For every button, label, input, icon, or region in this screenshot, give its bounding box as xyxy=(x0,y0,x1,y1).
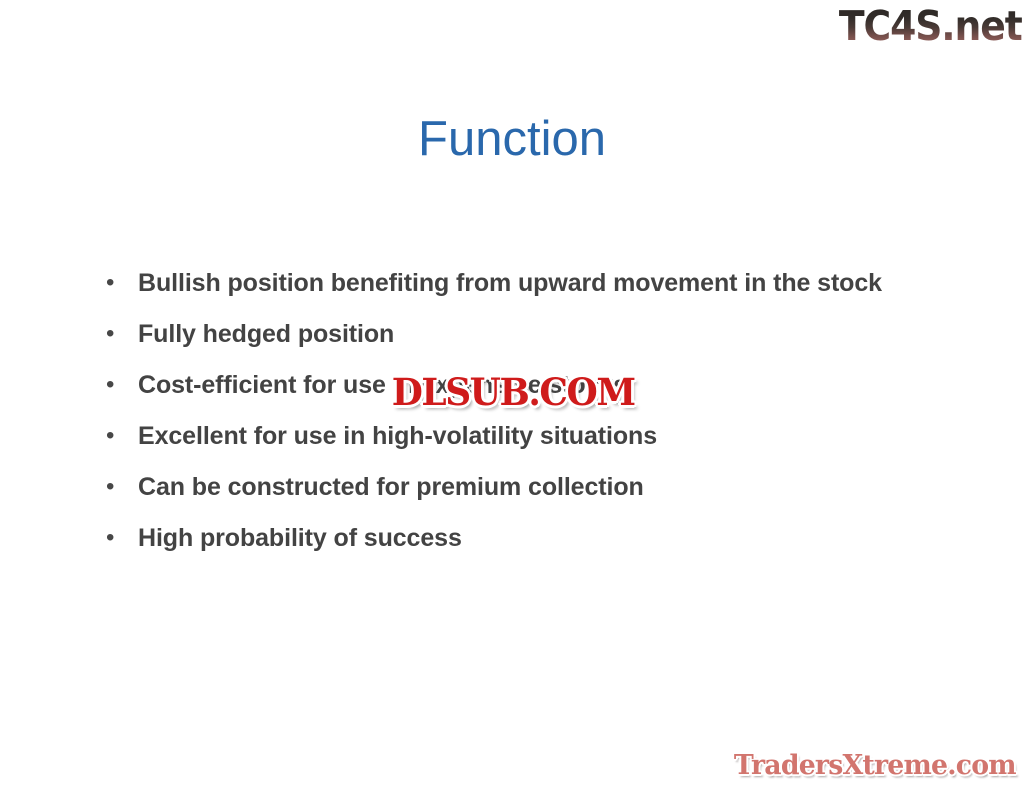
bullet-point-icon: • xyxy=(98,418,138,454)
list-item-label: Excellent for use in high-volatility sit… xyxy=(138,418,928,454)
list-item-label: Cost-efficient for use in expensive stoc… xyxy=(138,367,928,403)
bullet-point-icon: • xyxy=(98,316,138,352)
list-item: • Fully hedged position xyxy=(98,316,928,352)
site-logo: TC4S.net xyxy=(830,0,1022,54)
bullet-point-icon: • xyxy=(98,367,138,403)
bullet-point-icon: • xyxy=(98,520,138,556)
list-item-label: Bullish position benefiting from upward … xyxy=(138,265,928,301)
list-item: • High probability of success xyxy=(98,520,928,556)
bottom-right-watermark-text: TradersXtreme.com xyxy=(734,752,1016,779)
presentation-slide: TC4S.net Function • Bullish position ben… xyxy=(0,0,1024,791)
list-item: • Bullish position benefiting from upwar… xyxy=(98,265,928,301)
bullet-point-icon: • xyxy=(98,265,138,301)
list-item: • Can be constructed for premium collect… xyxy=(98,469,928,505)
site-logo-text: TC4S.net xyxy=(839,6,1022,47)
list-item-label: Fully hedged position xyxy=(138,316,928,352)
bullet-list: • Bullish position benefiting from upwar… xyxy=(98,265,928,571)
list-item-label: Can be constructed for premium collectio… xyxy=(138,469,928,505)
bottom-right-watermark: TradersXtreme.com xyxy=(706,745,1016,785)
list-item: • Cost-efficient for use in expensive st… xyxy=(98,367,928,403)
bullet-point-icon: • xyxy=(98,469,138,505)
list-item-label: High probability of success xyxy=(138,520,928,556)
page-title: Function xyxy=(0,113,1024,167)
list-item: • Excellent for use in high-volatility s… xyxy=(98,418,928,454)
